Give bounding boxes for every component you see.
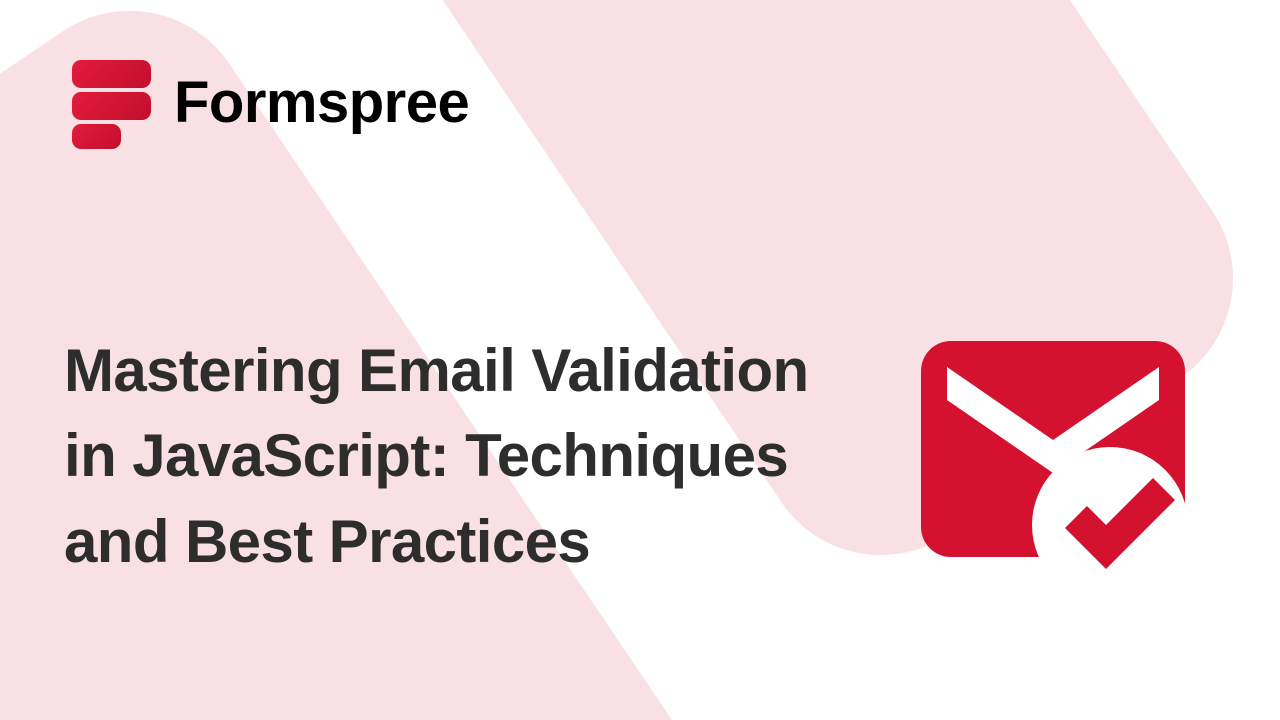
page-title: Mastering Email Validation in JavaScript… xyxy=(64,328,864,584)
brand-logo: Formspree xyxy=(72,58,469,148)
brand-wordmark: Formspree xyxy=(174,74,469,132)
email-verified-icon xyxy=(905,325,1205,600)
logo-bar-top xyxy=(72,60,151,88)
logo-bar-middle xyxy=(72,92,151,120)
logo-bar-bottom xyxy=(72,124,121,149)
formspree-f-logo-icon xyxy=(72,58,152,148)
og-card: Formspree Mastering Email Validation in … xyxy=(0,0,1280,720)
